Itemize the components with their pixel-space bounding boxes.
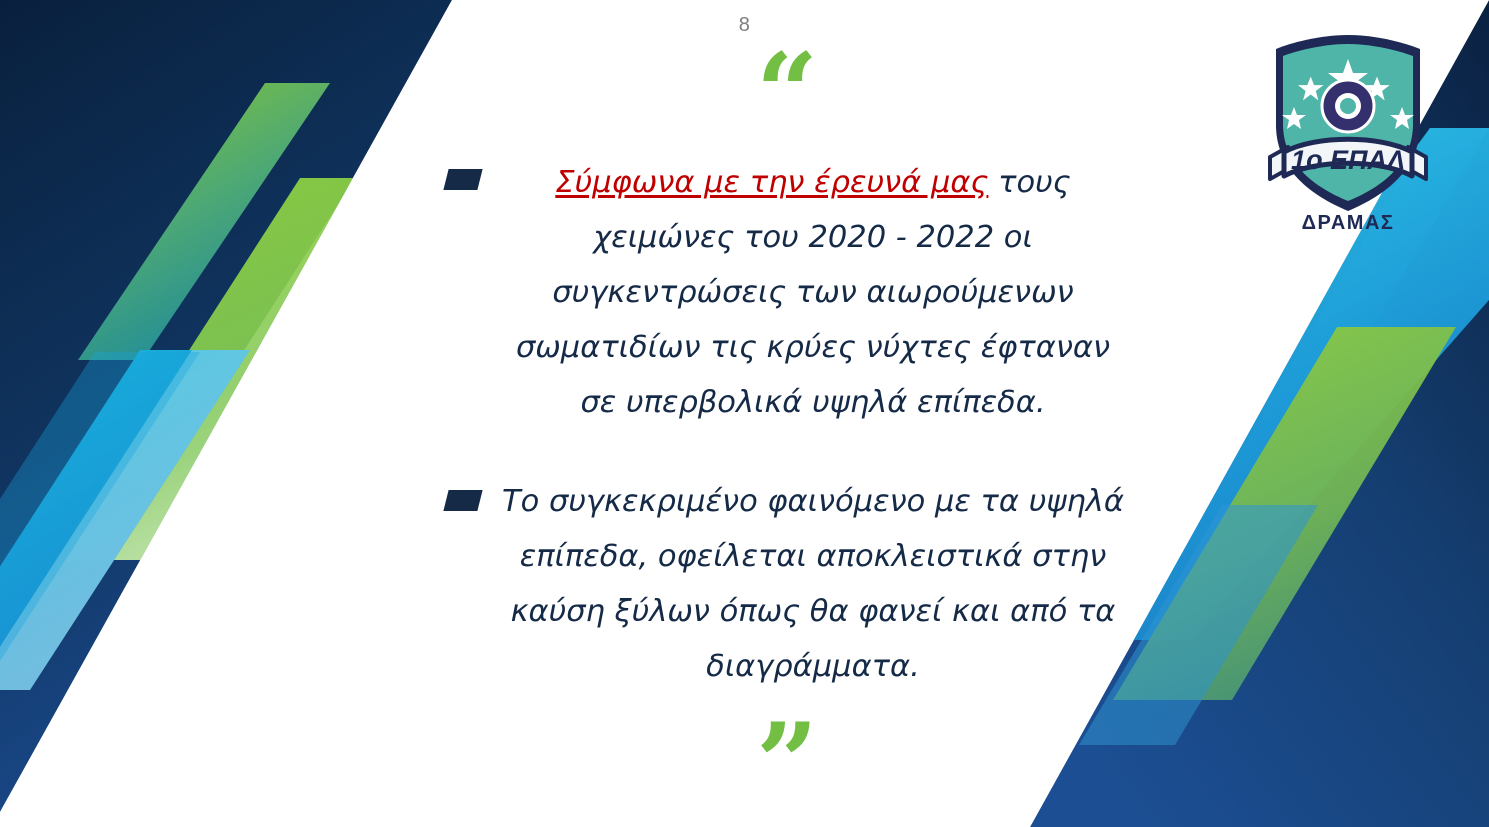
- open-quote-icon: “: [440, 55, 1130, 141]
- highlighted-phrase: Σύμφωνα με την έρευνά μας: [555, 165, 988, 200]
- banner-label: 1ο ΕΠΑΛ: [1291, 145, 1405, 175]
- logo-subtitle: ΔΡΑΜΑΣ: [1302, 212, 1395, 234]
- paragraph-2-text: Το συγκεκριμένο φαινόμενο με τα υψηλά επ…: [502, 484, 1124, 684]
- square-bullet-icon: [443, 490, 482, 511]
- bullet-paragraph-2: Το συγκεκριμένο φαινόμενο με τα υψηλά επ…: [440, 474, 1130, 694]
- school-crest-logo: 1ο ΕΠΑΛ ΔΡΑΜΑΣ: [1258, 29, 1438, 239]
- paragraph-1-text: τους χειμώνες του 2020 - 2022 οι συγκεντ…: [516, 165, 1110, 420]
- presentation-slide: 8 “ Σύμφωνα με την έρευνά μας τους χειμώ…: [0, 0, 1489, 827]
- square-bullet-icon: [443, 169, 482, 190]
- close-quote-icon: ”: [440, 725, 1130, 803]
- gear-icon: [1322, 80, 1374, 132]
- bullet-paragraph-1: Σύμφωνα με την έρευνά μας τους χειμώνες …: [440, 155, 1130, 430]
- slide-content: “ Σύμφωνα με την έρευνά μας τους χειμώνε…: [440, 55, 1130, 802]
